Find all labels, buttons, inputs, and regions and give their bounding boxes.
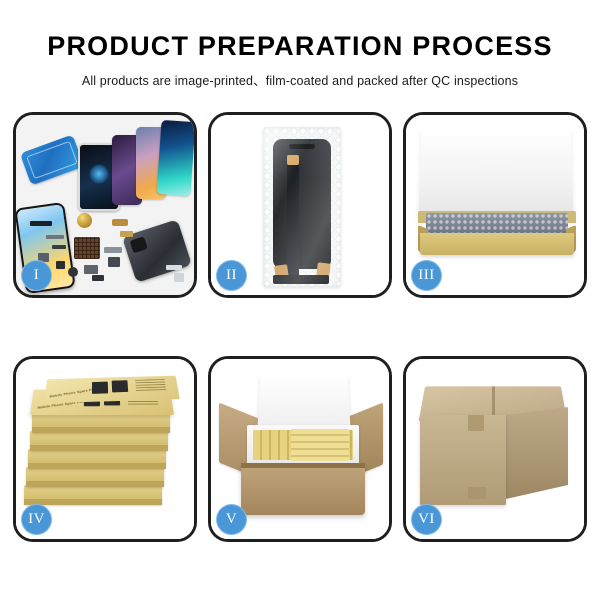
box-front bbox=[420, 233, 574, 255]
header: PRODUCT PREPARATION PROCESS All products… bbox=[0, 0, 600, 89]
stacked-box bbox=[28, 449, 166, 469]
stacked-box bbox=[26, 467, 164, 487]
carton-side bbox=[506, 407, 568, 499]
page-title: PRODUCT PREPARATION PROCESS bbox=[0, 33, 600, 60]
part-icon bbox=[174, 273, 184, 282]
speaker-coil-icon bbox=[77, 213, 92, 228]
part-icon bbox=[108, 257, 120, 267]
step-badge-5: V bbox=[216, 504, 247, 535]
carton-tape-lower bbox=[468, 487, 486, 499]
teal-phone-icon bbox=[156, 120, 194, 196]
part-icon bbox=[68, 267, 78, 277]
tape-icon bbox=[287, 155, 299, 165]
kraft-box-open bbox=[418, 211, 576, 257]
yellow-boxes-row bbox=[291, 429, 349, 461]
carton-tape-upper bbox=[468, 415, 484, 431]
stacked-box bbox=[32, 413, 170, 433]
part-icon bbox=[30, 221, 52, 226]
part-icon bbox=[112, 219, 128, 226]
chip-grid-icon bbox=[74, 237, 100, 259]
grey-foam-insert bbox=[426, 213, 568, 235]
carton-front-face bbox=[420, 415, 506, 505]
part-icon bbox=[46, 235, 64, 239]
box-print-textlines bbox=[135, 379, 166, 392]
box-print-swatch bbox=[112, 380, 129, 392]
part-icon bbox=[56, 261, 65, 269]
panel-step-1: I bbox=[13, 112, 197, 298]
flex-cable-icon bbox=[287, 161, 299, 279]
product-preparation-infographic: PRODUCT PREPARATION PROCESS All products… bbox=[0, 0, 600, 600]
panel-step-6: VI bbox=[403, 356, 587, 542]
connector-icon bbox=[273, 275, 329, 284]
part-icon bbox=[166, 265, 182, 270]
part-icon bbox=[84, 265, 98, 274]
wrapped-screen bbox=[273, 139, 331, 269]
part-icon bbox=[52, 245, 66, 249]
panel-step-2: II bbox=[208, 112, 392, 298]
step-badge-1: I bbox=[21, 260, 52, 291]
blue-film-icon bbox=[20, 134, 84, 185]
top-box-upper: Mobile Phone Spare Parts bbox=[45, 376, 180, 404]
step-badge-2: II bbox=[216, 260, 247, 291]
panel-step-4: Mobile Phone Spare Parts Mobile Phone Sp… bbox=[13, 356, 197, 542]
panel-step-5: V bbox=[208, 356, 392, 542]
step-badge-4: IV bbox=[21, 504, 52, 535]
foam-lid-open bbox=[257, 375, 350, 428]
stacked-box bbox=[24, 485, 162, 505]
step-badge-6: VI bbox=[411, 504, 442, 535]
stacked-box bbox=[30, 431, 168, 451]
page-subtitle: All products are image-printed、film-coat… bbox=[0, 70, 600, 89]
process-step-grid: I II bbox=[13, 112, 587, 542]
carton-front bbox=[241, 463, 365, 515]
box-stack: Mobile Phone Spare Parts Mobile Phone Sp… bbox=[22, 373, 192, 525]
part-icon bbox=[92, 275, 104, 281]
bubble-wrap-bag bbox=[263, 127, 341, 287]
part-icon bbox=[104, 247, 122, 253]
panel-step-3: III bbox=[403, 112, 587, 298]
part-icon bbox=[120, 231, 133, 237]
white-foam-lid bbox=[418, 130, 573, 222]
step-badge-3: III bbox=[411, 260, 442, 291]
box-print-swatch bbox=[92, 382, 108, 394]
